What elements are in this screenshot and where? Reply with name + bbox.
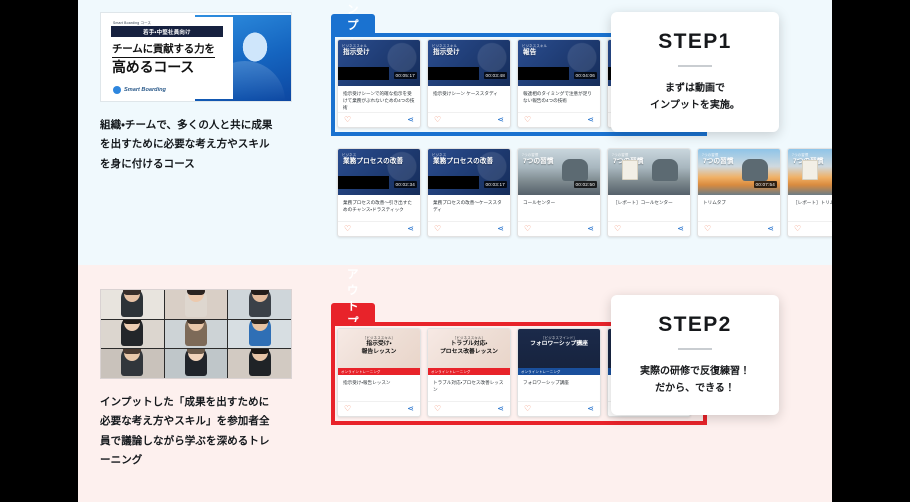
heart-icon[interactable]: ♡: [434, 116, 441, 124]
video-card[interactable]: 7つの習慣7つの習慣00:02:50コールセンター♡⋖: [517, 148, 601, 237]
meeting-participant-tile: [165, 320, 228, 349]
lesson-card-media: ［ビジネススキル］トラブル対応・ プロセス改善レッスンオンライントレーニング: [428, 329, 510, 375]
video-card-actions: ♡⋖: [338, 112, 420, 127]
output-caption: インプットした「成果を出すために必要な考え方やスキル」を参加者全員で議論しながら…: [100, 393, 278, 471]
step1-divider: [678, 65, 712, 67]
lesson-card-media: ［ビジネスマインド］フォロワーシップ講座オンライントレーニング: [518, 329, 600, 375]
video-card-tag: ビジネススキル: [342, 43, 367, 48]
video-card-bar: [338, 67, 389, 80]
video-card-bar: [428, 67, 479, 80]
lesson-card-actions: ♡⋖: [338, 401, 420, 416]
video-card-overlay-title: 報告: [523, 49, 536, 57]
lesson-card-body: トラブル対応・プロセス改善レッスン: [428, 375, 510, 401]
lesson-card-description: 指示受け・報告レッスン: [343, 380, 415, 387]
video-card-tag: 7つの習慣: [612, 152, 628, 157]
video-card-tag: 7つの習慣: [522, 152, 538, 157]
video-card-overlay-title: 7つの習慣: [703, 158, 734, 166]
video-card[interactable]: ビジネススキル指示受け00:03:48指示受けシーン ケーススタディ♡⋖: [427, 39, 511, 128]
input-left-column: Smart Boarding コース 若手・中堅社員向け チームに貢献する力を …: [100, 12, 300, 174]
meeting-participant-tile: [165, 290, 228, 319]
share-icon[interactable]: ⋖: [407, 405, 414, 413]
course-eyebrow: Smart Boarding コース: [113, 20, 151, 25]
content-column: Smart Boarding コース 若手・中堅社員向け チームに貢献する力を …: [78, 0, 832, 502]
video-card-media: ビジネススキル指示受け00:05:17: [338, 40, 420, 86]
output-section: インプットした「成果を出すために必要な考え方やスキル」を参加者全員で議論しながら…: [78, 265, 832, 502]
video-card-media: ビジネス業務プロセスの改善00:03:17: [428, 149, 510, 195]
heart-icon[interactable]: ♡: [614, 225, 621, 233]
lesson-card-description: トラブル対応・プロセス改善レッスン: [433, 380, 505, 394]
thumbnail-object: [742, 159, 768, 181]
participant-hair: [123, 349, 141, 354]
heart-icon[interactable]: ♡: [524, 405, 531, 413]
lesson-card-actions: ♡⋖: [428, 401, 510, 416]
heart-icon[interactable]: ♡: [524, 116, 531, 124]
share-icon[interactable]: ⋖: [587, 116, 594, 124]
lesson-card-ribbon: オンライントレーニング: [518, 368, 600, 375]
video-card-media: 7つの習慣7つの習慣00:07:54: [698, 149, 780, 195]
lesson-card[interactable]: ［ビジネススキル］トラブル対応・ プロセス改善レッスンオンライントレーニングトラ…: [427, 328, 511, 417]
course-thumbnail[interactable]: Smart Boarding コース 若手・中堅社員向け チームに貢献する力を …: [100, 12, 292, 102]
lesson-card[interactable]: ［ビジネスマインド］フォロワーシップ講座オンライントレーニングフォロワーシップ講…: [517, 328, 601, 417]
step2-divider: [678, 348, 712, 350]
video-card-body: 業務プロセスの改善〜引き出すためのチャンス・ドラスティック: [338, 195, 420, 221]
thumbnail-object: [562, 159, 588, 181]
video-card-description: 業務プロセスの改善〜ケーススタディ: [433, 200, 505, 214]
video-card-description: ［レポート］コールセンター: [613, 200, 685, 207]
video-card-media: ビジネススキル報告00:04:06: [518, 40, 600, 86]
meeting-screenshot[interactable]: [100, 289, 292, 379]
step1-title: STEP1: [658, 30, 732, 54]
video-card-media: ビジネス業務プロセスの改善00:02:34: [338, 149, 420, 195]
heart-icon[interactable]: ♡: [344, 225, 351, 233]
video-card-body: 業務プロセスの改善〜ケーススタディ: [428, 195, 510, 221]
heart-icon[interactable]: ♡: [704, 225, 711, 233]
video-card-bar: [338, 176, 389, 189]
video-card[interactable]: ビジネス業務プロセスの改善00:02:34業務プロセスの改善〜引き出すためのチャ…: [337, 148, 421, 237]
video-card[interactable]: ビジネススキル指示受け00:05:17指示受けシーンで的確な指示を受けて業務がぶ…: [337, 39, 421, 128]
video-card-actions: ♡⋖: [608, 221, 690, 236]
video-card-description: 指示受けシーン ケーススタディ: [433, 91, 505, 98]
participant-hair: [187, 320, 205, 325]
lesson-card-tag: ［ビジネススキル］: [428, 335, 510, 340]
participant-hair: [251, 349, 269, 354]
video-duration: 00:02:50: [574, 181, 597, 188]
video-card-description: 報連相のタイミングで注意が足りない報告の4つの技術: [523, 91, 595, 105]
share-icon[interactable]: ⋖: [677, 225, 684, 233]
course-band: 若手・中堅社員向け: [111, 26, 223, 37]
video-card-tag: ビジネス: [432, 152, 446, 157]
video-card-actions: ♡⋖: [428, 112, 510, 127]
heart-icon[interactable]: ♡: [434, 225, 441, 233]
video-card-tag: ビジネススキル: [432, 43, 457, 48]
heart-icon[interactable]: ♡: [524, 225, 531, 233]
step2-card: STEP2 実際の研修で反復練習！ だから、できる！: [611, 295, 779, 415]
step2-body: 実際の研修で反復練習！ だから、できる！: [640, 363, 750, 397]
video-card-description: ［レポート］トリムタブ: [793, 200, 832, 207]
smart-boarding-logo: Smart Boarding: [113, 86, 166, 94]
meeting-participant-tile: [101, 290, 164, 319]
video-card-body: 報連相のタイミングで注意が足りない報告の4つの技術: [518, 86, 600, 112]
heart-icon[interactable]: ♡: [434, 405, 441, 413]
video-card-overlay-title: 業務プロセスの改善: [343, 158, 403, 166]
video-card-body: ［レポート］コールセンター: [608, 195, 690, 221]
lesson-card-description: フォロワーシップ講座: [523, 380, 595, 387]
video-card-bar: [428, 176, 479, 189]
video-card-body: 指示受けシーン ケーススタディ: [428, 86, 510, 112]
video-card-media: 7つの習慣7つの習慣: [608, 149, 690, 195]
participant-hair: [123, 290, 141, 295]
video-card-bar: [518, 67, 569, 80]
participant-hair: [251, 320, 269, 325]
share-icon[interactable]: ⋖: [497, 405, 504, 413]
video-card-tag: 7つの習慣: [702, 152, 718, 157]
heart-icon[interactable]: ♡: [344, 405, 351, 413]
share-icon[interactable]: ⋖: [587, 405, 594, 413]
input-caption: 組織・チームで、多くの人と共に成果を出すために必要な考え方やスキルを身に付けるコ…: [100, 116, 278, 174]
share-icon[interactable]: ⋖: [497, 225, 504, 233]
lesson-card-tag: ［ビジネススキル］: [338, 335, 420, 340]
video-duration: 00:03:17: [484, 181, 507, 188]
video-duration: 00:03:48: [484, 72, 507, 79]
report-doc-icon: [802, 160, 818, 180]
input-section: Smart Boarding コース 若手・中堅社員向け チームに貢献する力を …: [78, 0, 832, 265]
lesson-card-title: トラブル対応・ プロセス改善レッスン: [428, 341, 510, 357]
step2-title: STEP2: [658, 313, 732, 337]
lesson-card-title: 指示受け・ 報告レッスン: [338, 341, 420, 357]
video-card-overlay-title: 指示受け: [343, 49, 370, 57]
meeting-participant-tile: [101, 320, 164, 349]
meeting-participant-tile: [228, 349, 291, 378]
lesson-card-ribbon: オンライントレーニング: [338, 368, 420, 375]
lesson-card-tag: ［ビジネスマインド］: [518, 335, 600, 340]
video-card-description: コールセンター: [523, 200, 595, 207]
participant-hair: [123, 320, 141, 325]
participant-hair: [187, 349, 205, 354]
video-duration: 00:07:54: [754, 181, 777, 188]
video-card-description: 業務プロセスの改善〜引き出すためのチャンス・ドラスティック: [343, 200, 415, 214]
lesson-card-media: ［ビジネススキル］指示受け・ 報告レッスンオンライントレーニング: [338, 329, 420, 375]
video-card-media: 7つの習慣7つの習慣: [788, 149, 832, 195]
video-card-body: コールセンター: [518, 195, 600, 221]
course-title-line2: 高めるコース: [112, 57, 194, 77]
video-duration: 00:05:17: [394, 72, 417, 79]
video-card[interactable]: ビジネス業務プロセスの改善00:03:17業務プロセスの改善〜ケーススタディ♡⋖: [427, 148, 511, 237]
video-card-media: 7つの習慣7つの習慣00:02:50: [518, 149, 600, 195]
thumbnail-object: [652, 159, 678, 181]
video-card-overlay-title: 業務プロセスの改善: [433, 158, 493, 166]
share-icon[interactable]: ⋖: [497, 116, 504, 124]
video-card[interactable]: 7つの習慣7つの習慣［レポート］コールセンター♡⋖: [607, 148, 691, 237]
video-card-actions: ♡⋖: [788, 221, 832, 236]
video-card-tag: 7つの習慣: [792, 152, 808, 157]
video-card[interactable]: 7つの習慣7つの習慣00:07:54トリムタブ♡⋖: [697, 148, 781, 237]
lesson-card-ribbon: オンライントレーニング: [428, 368, 510, 375]
video-card-media: ビジネススキル指示受け00:03:48: [428, 40, 510, 86]
video-card[interactable]: ビジネススキル報告00:04:06報連相のタイミングで注意が足りない報告の4つの…: [517, 39, 601, 128]
lesson-card-body: 指示受け・報告レッスン: [338, 375, 420, 401]
participant-hair: [187, 290, 205, 295]
meeting-participant-tile: [101, 349, 164, 378]
video-card-description: トリムタブ: [703, 200, 775, 207]
participant-hair: [251, 290, 269, 295]
video-card-actions: ♡⋖: [698, 221, 780, 236]
lesson-card[interactable]: ［ビジネススキル］指示受け・ 報告レッスンオンライントレーニング指示受け・報告レ…: [337, 328, 421, 417]
video-card-tag: ビジネススキル: [522, 43, 547, 48]
share-icon[interactable]: ⋖: [587, 225, 594, 233]
video-card-overlay-title: 指示受け: [433, 49, 460, 57]
logo-text: Smart Boarding: [124, 87, 166, 93]
lesson-card-body: フォロワーシップ講座: [518, 375, 600, 401]
video-card-tag: ビジネス: [342, 152, 356, 157]
video-card[interactable]: 7つの習慣7つの習慣［レポート］トリムタブ♡⋖: [787, 148, 832, 237]
heart-icon[interactable]: ♡: [794, 225, 801, 233]
video-card-actions: ♡⋖: [338, 221, 420, 236]
video-card-description: 指示受けシーンで的確な指示を受けて業務がぶれないための4つの技術: [343, 91, 415, 112]
course-title-line1: チームに貢献する力を: [112, 41, 215, 58]
meeting-participant-tile: [228, 320, 291, 349]
heart-icon[interactable]: ♡: [344, 116, 351, 124]
share-icon[interactable]: ⋖: [767, 225, 774, 233]
screenshot-stage: Smart Boarding コース 若手・中堅社員向け チームに貢献する力を …: [0, 0, 910, 502]
step1-body: まずは動画で インプットを実施。: [650, 80, 740, 114]
share-icon[interactable]: ⋖: [407, 116, 414, 124]
meeting-participant-tile: [165, 349, 228, 378]
input-card-row-2: ビジネス業務プロセスの改善00:02:34業務プロセスの改善〜引き出すためのチャ…: [337, 148, 832, 237]
video-duration: 00:04:06: [574, 72, 597, 79]
lesson-card-actions: ♡⋖: [518, 401, 600, 416]
output-left-column: インプットした「成果を出すために必要な考え方やスキル」を参加者全員で議論しながら…: [100, 289, 300, 471]
video-card-overlay-title: 7つの習慣: [523, 158, 554, 166]
video-card-body: ［レポート］トリムタブ: [788, 195, 832, 221]
lesson-card-title: フォロワーシップ講座: [518, 341, 600, 349]
step1-card: STEP1 まずは動画で インプットを実施。: [611, 12, 779, 132]
video-card-body: トリムタブ: [698, 195, 780, 221]
share-icon[interactable]: ⋖: [407, 225, 414, 233]
logo-mark-icon: [113, 86, 121, 94]
meeting-participant-tile: [228, 290, 291, 319]
video-card-actions: ♡⋖: [428, 221, 510, 236]
report-doc-icon: [622, 160, 638, 180]
video-card-actions: ♡⋖: [518, 112, 600, 127]
video-duration: 00:02:34: [394, 181, 417, 188]
video-card-body: 指示受けシーンで的確な指示を受けて業務がぶれないための4つの技術: [338, 86, 420, 112]
video-card-actions: ♡⋖: [518, 221, 600, 236]
